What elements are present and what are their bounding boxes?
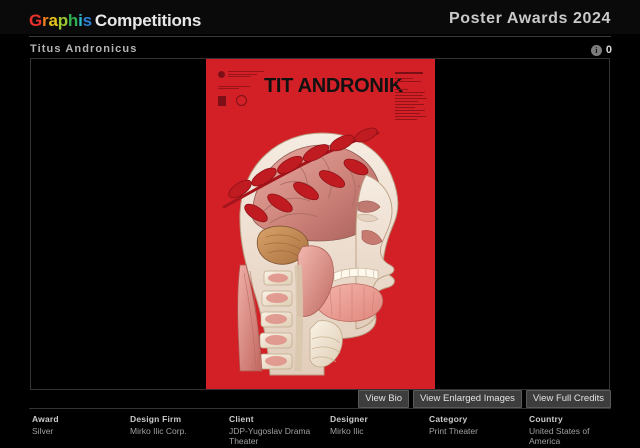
metadata-label: Designer bbox=[330, 414, 368, 424]
awards-title: Poster Awards 2024 bbox=[449, 10, 611, 28]
metadata-divider bbox=[29, 408, 611, 409]
graphis-wordmark: Graphis bbox=[29, 11, 92, 30]
view-bio-button[interactable]: View Bio bbox=[358, 390, 409, 408]
metadata-value: Silver bbox=[32, 426, 59, 436]
poster-logo-textlines bbox=[228, 71, 264, 79]
poster-viewer-panel[interactable]: TIT ANDRONIK bbox=[30, 58, 610, 390]
poster-headline: TIT ANDRONIK bbox=[264, 75, 403, 98]
comment-count-group[interactable]: i 0 bbox=[591, 44, 612, 56]
poster-secondary-marks bbox=[218, 95, 264, 106]
metadata-column-award: Award Silver bbox=[32, 414, 59, 436]
metadata-value: Mirko Ilic bbox=[330, 426, 368, 436]
poster-sponsor-logos bbox=[218, 71, 264, 106]
poster-logo-badge-icon bbox=[218, 71, 225, 78]
metadata-label: Client bbox=[229, 414, 321, 424]
metadata-label: Category bbox=[429, 414, 478, 424]
app-header: GraphisCompetitions Poster Awards 2024 bbox=[0, 0, 640, 34]
view-full-credits-button[interactable]: View Full Credits bbox=[526, 390, 611, 408]
poster-mark-shield-icon bbox=[218, 96, 226, 106]
poster-logo-subtext bbox=[218, 86, 264, 90]
metadata-value: United States of America bbox=[529, 426, 605, 446]
anatomical-head-illustration bbox=[206, 115, 435, 390]
logo-letter-p: p bbox=[58, 11, 68, 31]
info-icon[interactable]: i bbox=[591, 45, 602, 56]
metadata-column-category: Category Print Theater bbox=[429, 414, 478, 436]
entry-metadata-row: Award Silver Design Firm Mirko Ilic Corp… bbox=[0, 414, 640, 448]
metadata-label: Country bbox=[529, 414, 605, 424]
metadata-column-country: Country United States of America bbox=[529, 414, 605, 446]
metadata-label: Award bbox=[32, 414, 59, 424]
action-button-row[interactable]: View Bio View Enlarged Images View Full … bbox=[358, 390, 611, 408]
logo-letter-h: h bbox=[68, 11, 78, 31]
logo-letter-G: G bbox=[29, 11, 42, 31]
graphis-logo[interactable]: GraphisCompetitions bbox=[29, 11, 201, 31]
page-title: Titus Andronicus bbox=[30, 43, 137, 55]
metadata-label: Design Firm bbox=[130, 414, 187, 424]
view-enlarged-images-button[interactable]: View Enlarged Images bbox=[413, 390, 522, 408]
metadata-value: Mirko Ilic Corp. bbox=[130, 426, 187, 436]
logo-letter-s: s bbox=[83, 11, 92, 31]
poster-mark-circle-icon bbox=[236, 95, 247, 106]
metadata-column-design-firm: Design Firm Mirko Ilic Corp. bbox=[130, 414, 187, 436]
logo-letter-a: a bbox=[48, 11, 57, 31]
comment-count: 0 bbox=[606, 44, 612, 56]
metadata-value: Print Theater bbox=[429, 426, 478, 436]
metadata-value: JDP-Yugoslav Drama Theater bbox=[229, 426, 321, 446]
competitions-word: Competitions bbox=[95, 11, 201, 30]
header-divider bbox=[29, 36, 611, 37]
poster-image[interactable]: TIT ANDRONIK bbox=[206, 59, 435, 390]
metadata-column-client: Client JDP-Yugoslav Drama Theater bbox=[229, 414, 321, 446]
metadata-column-designer: Designer Mirko Ilic bbox=[330, 414, 368, 436]
